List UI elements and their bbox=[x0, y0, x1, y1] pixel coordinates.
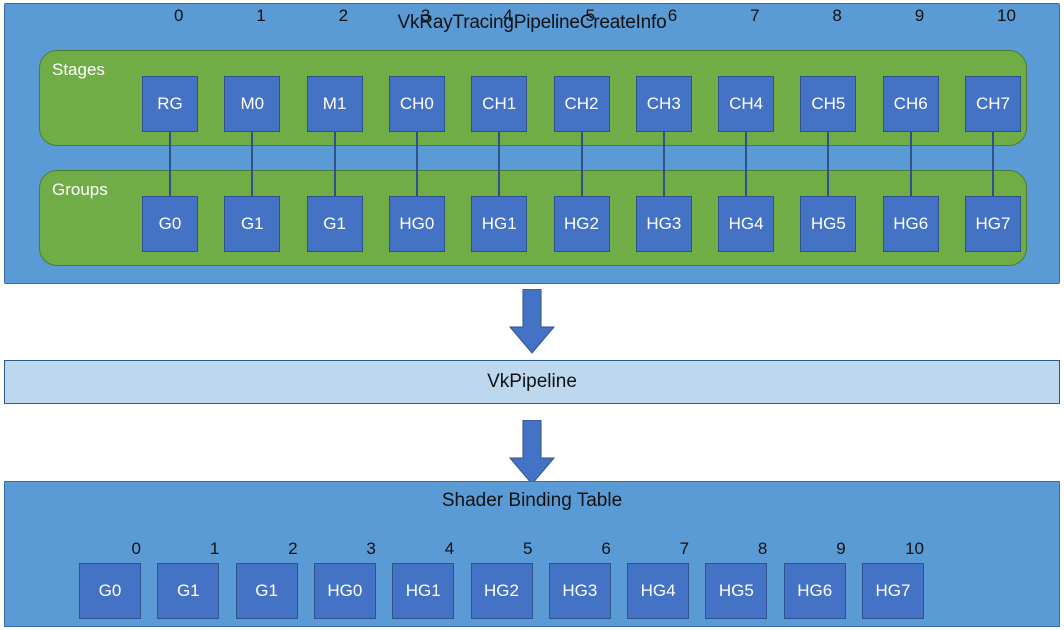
group-cell[interactable]: HG4 bbox=[718, 196, 774, 252]
stage-group-connector bbox=[827, 132, 829, 196]
sbt-cell[interactable]: HG2 bbox=[471, 563, 533, 619]
sbt-cell[interactable]: HG5 bbox=[705, 563, 767, 619]
stage-index-label: 10 bbox=[997, 5, 1016, 27]
stage-index-label: 5 bbox=[586, 5, 595, 27]
stage-index-label: 7 bbox=[750, 5, 759, 27]
stage-group-connector bbox=[581, 132, 583, 196]
stage-cell[interactable]: M0 bbox=[224, 76, 280, 132]
group-cell[interactable]: HG5 bbox=[800, 196, 856, 252]
stage-index-label: 0 bbox=[174, 5, 183, 27]
sbt-index-label: 0 bbox=[79, 539, 141, 559]
sbt-cell[interactable]: HG7 bbox=[862, 563, 924, 619]
stage-group-connector bbox=[910, 132, 912, 196]
stage-group-connector bbox=[663, 132, 665, 196]
shader-binding-table-title: Shader Binding Table bbox=[5, 490, 1059, 512]
group-cell[interactable]: G1 bbox=[307, 196, 363, 252]
pipeline-bar: VkPipeline bbox=[4, 360, 1060, 404]
stage-cell[interactable]: CH6 bbox=[883, 76, 939, 132]
stage-group-connector bbox=[992, 132, 994, 196]
group-cell[interactable]: HG1 bbox=[471, 196, 527, 252]
index-strip bbox=[39, 146, 1027, 170]
stages-label: Stages bbox=[52, 60, 105, 80]
stage-index-label: 9 bbox=[915, 5, 924, 27]
stage-group-connector bbox=[745, 132, 747, 196]
shader-binding-table-container: Shader Binding Table 0G01G12G13HG04HG15H… bbox=[4, 481, 1060, 627]
stage-cell[interactable]: CH1 bbox=[471, 76, 527, 132]
stage-group-connector bbox=[334, 132, 336, 196]
stage-index-label: 3 bbox=[421, 5, 430, 27]
stage-group-connector bbox=[169, 132, 171, 196]
group-cell[interactable]: HG7 bbox=[965, 196, 1021, 252]
groups-label: Groups bbox=[52, 180, 108, 200]
group-cell[interactable]: HG3 bbox=[636, 196, 692, 252]
diagram-canvas: VkRayTracingPipelineCreateInfo Stages Gr… bbox=[0, 0, 1064, 630]
sbt-cell[interactable]: HG6 bbox=[784, 563, 846, 619]
sbt-index-label: 3 bbox=[314, 539, 376, 559]
stage-cell[interactable]: CH5 bbox=[800, 76, 856, 132]
sbt-index-label: 6 bbox=[549, 539, 611, 559]
stage-index-label: 1 bbox=[256, 5, 265, 27]
createinfo-title: VkRayTracingPipelineCreateInfo bbox=[5, 12, 1059, 34]
stage-cell[interactable]: CH0 bbox=[389, 76, 445, 132]
stage-cell[interactable]: CH2 bbox=[554, 76, 610, 132]
arrow-down-icon bbox=[508, 420, 556, 486]
sbt-index-label: 7 bbox=[627, 539, 689, 559]
sbt-cell[interactable]: G1 bbox=[157, 563, 219, 619]
stage-group-connector bbox=[251, 132, 253, 196]
createinfo-container: VkRayTracingPipelineCreateInfo Stages Gr… bbox=[4, 3, 1060, 284]
stage-group-connector bbox=[416, 132, 418, 196]
group-cell[interactable]: G1 bbox=[224, 196, 280, 252]
stage-index-label: 4 bbox=[503, 5, 512, 27]
stage-index-label: 6 bbox=[668, 5, 677, 27]
group-cell[interactable]: HG6 bbox=[883, 196, 939, 252]
sbt-index-label: 10 bbox=[862, 539, 924, 559]
stage-cell[interactable]: M1 bbox=[307, 76, 363, 132]
stage-cell[interactable]: RG bbox=[142, 76, 198, 132]
stage-cell[interactable]: CH4 bbox=[718, 76, 774, 132]
sbt-cell[interactable]: HG3 bbox=[549, 563, 611, 619]
pipeline-label: VkPipeline bbox=[487, 371, 577, 393]
sbt-cell[interactable]: G1 bbox=[236, 563, 298, 619]
sbt-cell[interactable]: HG4 bbox=[627, 563, 689, 619]
sbt-cell[interactable]: HG1 bbox=[392, 563, 454, 619]
stage-cell[interactable]: CH7 bbox=[965, 76, 1021, 132]
group-cell[interactable]: G0 bbox=[142, 196, 198, 252]
stage-cell[interactable]: CH3 bbox=[636, 76, 692, 132]
arrow-down-icon bbox=[508, 289, 556, 355]
sbt-index-label: 2 bbox=[236, 539, 298, 559]
sbt-index-label: 8 bbox=[705, 539, 767, 559]
stage-index-label: 8 bbox=[832, 5, 841, 27]
stage-index-label: 2 bbox=[339, 5, 348, 27]
sbt-index-label: 9 bbox=[784, 539, 846, 559]
sbt-index-label: 5 bbox=[471, 539, 533, 559]
stage-group-connector bbox=[498, 132, 500, 196]
group-cell[interactable]: HG2 bbox=[554, 196, 610, 252]
group-cell[interactable]: HG0 bbox=[389, 196, 445, 252]
sbt-index-label: 1 bbox=[157, 539, 219, 559]
sbt-index-label: 4 bbox=[392, 539, 454, 559]
sbt-cell[interactable]: HG0 bbox=[314, 563, 376, 619]
sbt-cell[interactable]: G0 bbox=[79, 563, 141, 619]
